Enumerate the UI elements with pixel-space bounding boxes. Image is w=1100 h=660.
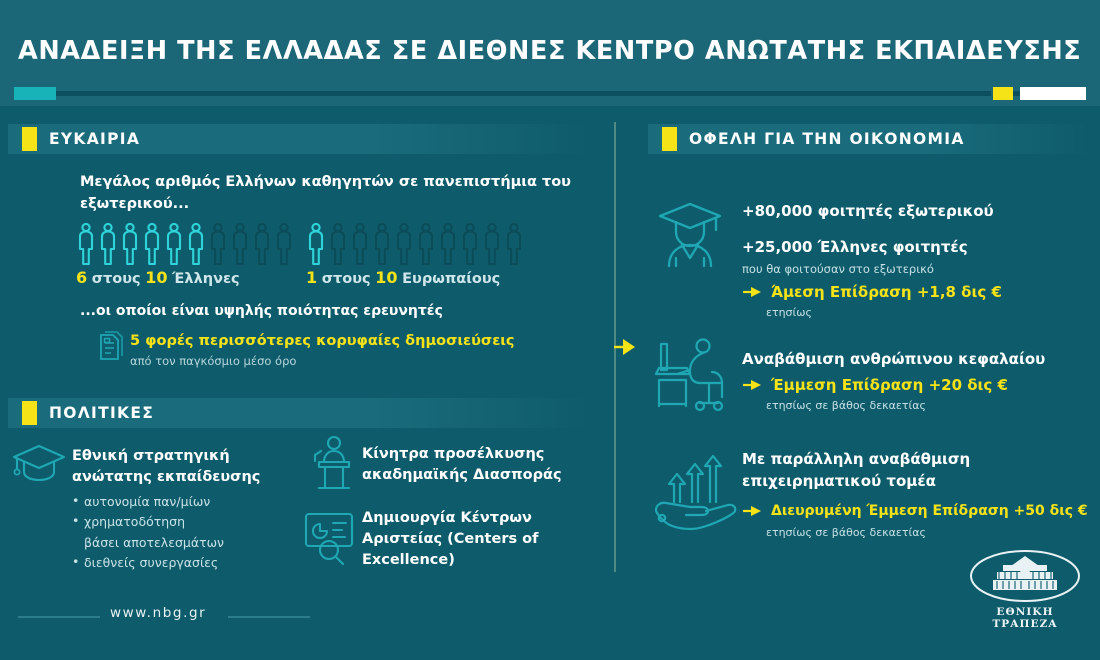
benefit-1-sub: ετησίως [766, 306, 812, 319]
desk-worker-icon [648, 336, 734, 420]
logo-name: ΕΘΝΙΚΗ ΤΡΑΠΕΖΑ [963, 606, 1087, 630]
benefit-1-note: που θα φοιτούσαν στο εξωτερικό [742, 262, 934, 276]
person-figure-icon [274, 222, 294, 266]
policy-title-diaspora-incentives: Κίνητρα προσέλκυσης ακαδημαϊκής Διασπορά… [362, 444, 592, 486]
person-figure-icon [306, 222, 326, 266]
section-chip-icon [22, 127, 37, 151]
person-figure-icon [230, 222, 250, 266]
person-figure-icon [394, 222, 414, 266]
person-figure-icon [120, 222, 140, 266]
benefit-1-impact: Άμεση Επίδραση +1,8 δις € [742, 283, 1002, 301]
person-figure-icon [350, 222, 370, 266]
policy-bullets-national-strategy: αυτονομία παν/μίων χρηματοδότηση βάσει α… [72, 492, 224, 573]
benefit-1-line2: +25,000 Έλληνες φοιτητές [742, 238, 968, 256]
person-figure-icon [186, 222, 206, 266]
section-header-policies: ΠΟΛΙΤΙΚΕΣ [8, 398, 588, 428]
person-figure-icon [98, 222, 118, 266]
ratio-label-greeks: 6 στους 10 Έλληνες [76, 268, 240, 287]
opportunity-lead-text: Μεγάλος αριθμός Ελλήνων καθηγητών σε παν… [80, 172, 580, 216]
person-figure-icon [482, 222, 502, 266]
benefit-2-impact: Έμμεση Επίδραση +20 δις € [742, 376, 1008, 394]
arrow-right-icon [742, 285, 764, 299]
person-figure-icon [438, 222, 458, 266]
publication-headline: 5 φορές περισσότερες κορυφαίες δημοσιεύσ… [130, 333, 515, 349]
benefit-2-sub: ετησίως σε βάθος δεκαετίας [766, 399, 926, 412]
left-column: ΕΥΚΑΙΡΙΑ Μεγάλος αριθμός Ελλήνων καθηγητ… [0, 0, 614, 660]
policy-bullet: χρηματοδότηση [72, 512, 224, 532]
ratio-denominator-greeks: 10 [145, 268, 167, 287]
publication-subtext: από τον παγκόσμιο μέσο όρο [130, 354, 296, 368]
graduation-cap-icon [10, 440, 68, 490]
ratio-label-europeans: 1 στους 10 Ευρωπαίους [306, 268, 500, 287]
benefit-3-sub: ετησίως σε βάθος δεκαετίας [766, 526, 926, 539]
ratio-connector-greeks: στους [92, 271, 141, 287]
person-figure-icon [164, 222, 184, 266]
nbg-logo: ΕΘΝΙΚΗ ΤΡΑΠΕΖΑ [963, 548, 1087, 626]
policy-bullet: διεθνείς συνεργασίες [72, 553, 224, 573]
policy-bullet: αυτονομία παν/μίων [72, 492, 224, 512]
section-chip-icon [22, 401, 37, 425]
section-label-policies: ΠΟΛΙΤΙΚΕΣ [49, 404, 154, 422]
person-figure-icon [76, 222, 96, 266]
hand-growth-icon [648, 450, 740, 538]
infographic-page: ΑΝΑΔΕΙΞΗ ΤΗΣ ΕΛΛΑΔΑΣ ΣΕ ΔΙΕΘΝΕΣ ΚΕΝΤΡΟ Α… [0, 0, 1100, 660]
policy-bullet-continuation: βάσει αποτελεσμάτων [72, 533, 224, 553]
ratio-connector-europeans: στους [322, 271, 371, 287]
person-figure-icon [460, 222, 480, 266]
person-figure-icon [504, 222, 524, 266]
documents-icon [96, 330, 126, 368]
podium-speaker-icon [306, 432, 362, 496]
benefit-3-line1: Με παράλληλη αναβάθμιση [742, 450, 970, 468]
ratio-numerator-greeks: 6 [76, 268, 87, 287]
ratio-group-europeans: Ευρωπαίους [402, 271, 500, 287]
section-chip-icon [662, 127, 677, 151]
arrow-right-icon [742, 504, 764, 518]
section-label-benefits: ΟΦΕΛΗ ΓΙΑ ΤΗΝ ΟΙΚΟΝΟΜΙΑ [689, 130, 965, 148]
person-figure-icon [208, 222, 228, 266]
person-figure-icon [252, 222, 272, 266]
person-figure-icon [142, 222, 162, 266]
opportunity-sub-lead: ...οι οποίοι είναι υψηλής ποιότητας ερευ… [80, 303, 600, 319]
policy-title-centers-of-excellence: Δημιουργία Κέντρων Αριστείας (Centers of… [362, 508, 592, 571]
nbg-building-oval-logo [963, 548, 1087, 606]
section-label-opportunity: ΕΥΚΑΙΡΙΑ [49, 130, 140, 148]
section-header-benefits: ΟΦΕΛΗ ΓΙΑ ΤΗΝ ΟΙΚΟΝΟΜΙΑ [648, 124, 1088, 154]
benefit-1-impact-text: Άμεση Επίδραση +1,8 δις € [771, 283, 1002, 301]
pictogram-europeans [306, 222, 524, 266]
footer-divider-right [228, 616, 310, 618]
benefit-2-line1: Αναβάθμιση ανθρώπινου κεφαλαίου [742, 350, 1045, 368]
footer-url[interactable]: www.nbg.gr [110, 605, 206, 621]
benefit-1-line1: +80,000 φοιτητές εξωτερικού [742, 202, 994, 220]
person-figure-icon [416, 222, 436, 266]
ratio-group-greeks: Έλληνες [172, 271, 239, 287]
graduate-student-icon [654, 196, 726, 278]
benefit-2-impact-text: Έμμεση Επίδραση +20 δις € [771, 376, 1008, 394]
person-figure-icon [328, 222, 348, 266]
ratio-denominator-europeans: 10 [375, 268, 397, 287]
footer-divider-left [18, 616, 100, 618]
pictogram-greeks [76, 222, 294, 266]
arrow-right-icon [742, 378, 764, 392]
ratio-numerator-europeans: 1 [306, 268, 317, 287]
benefit-3-impact-text: Διευρυμένη Έμμεση Επίδραση +50 δις € [771, 503, 1088, 519]
benefit-3-line2: επιχειρηματικού τομέα [742, 472, 936, 490]
person-figure-icon [372, 222, 392, 266]
section-header-opportunity: ΕΥΚΑΙΡΙΑ [8, 124, 588, 154]
report-magnifier-icon [300, 508, 362, 570]
benefit-3-impact: Διευρυμένη Έμμεση Επίδραση +50 δις € [742, 503, 1088, 519]
policy-title-national-strategy: Εθνική στρατηγική ανώτατης εκπαίδευσης [72, 446, 292, 488]
